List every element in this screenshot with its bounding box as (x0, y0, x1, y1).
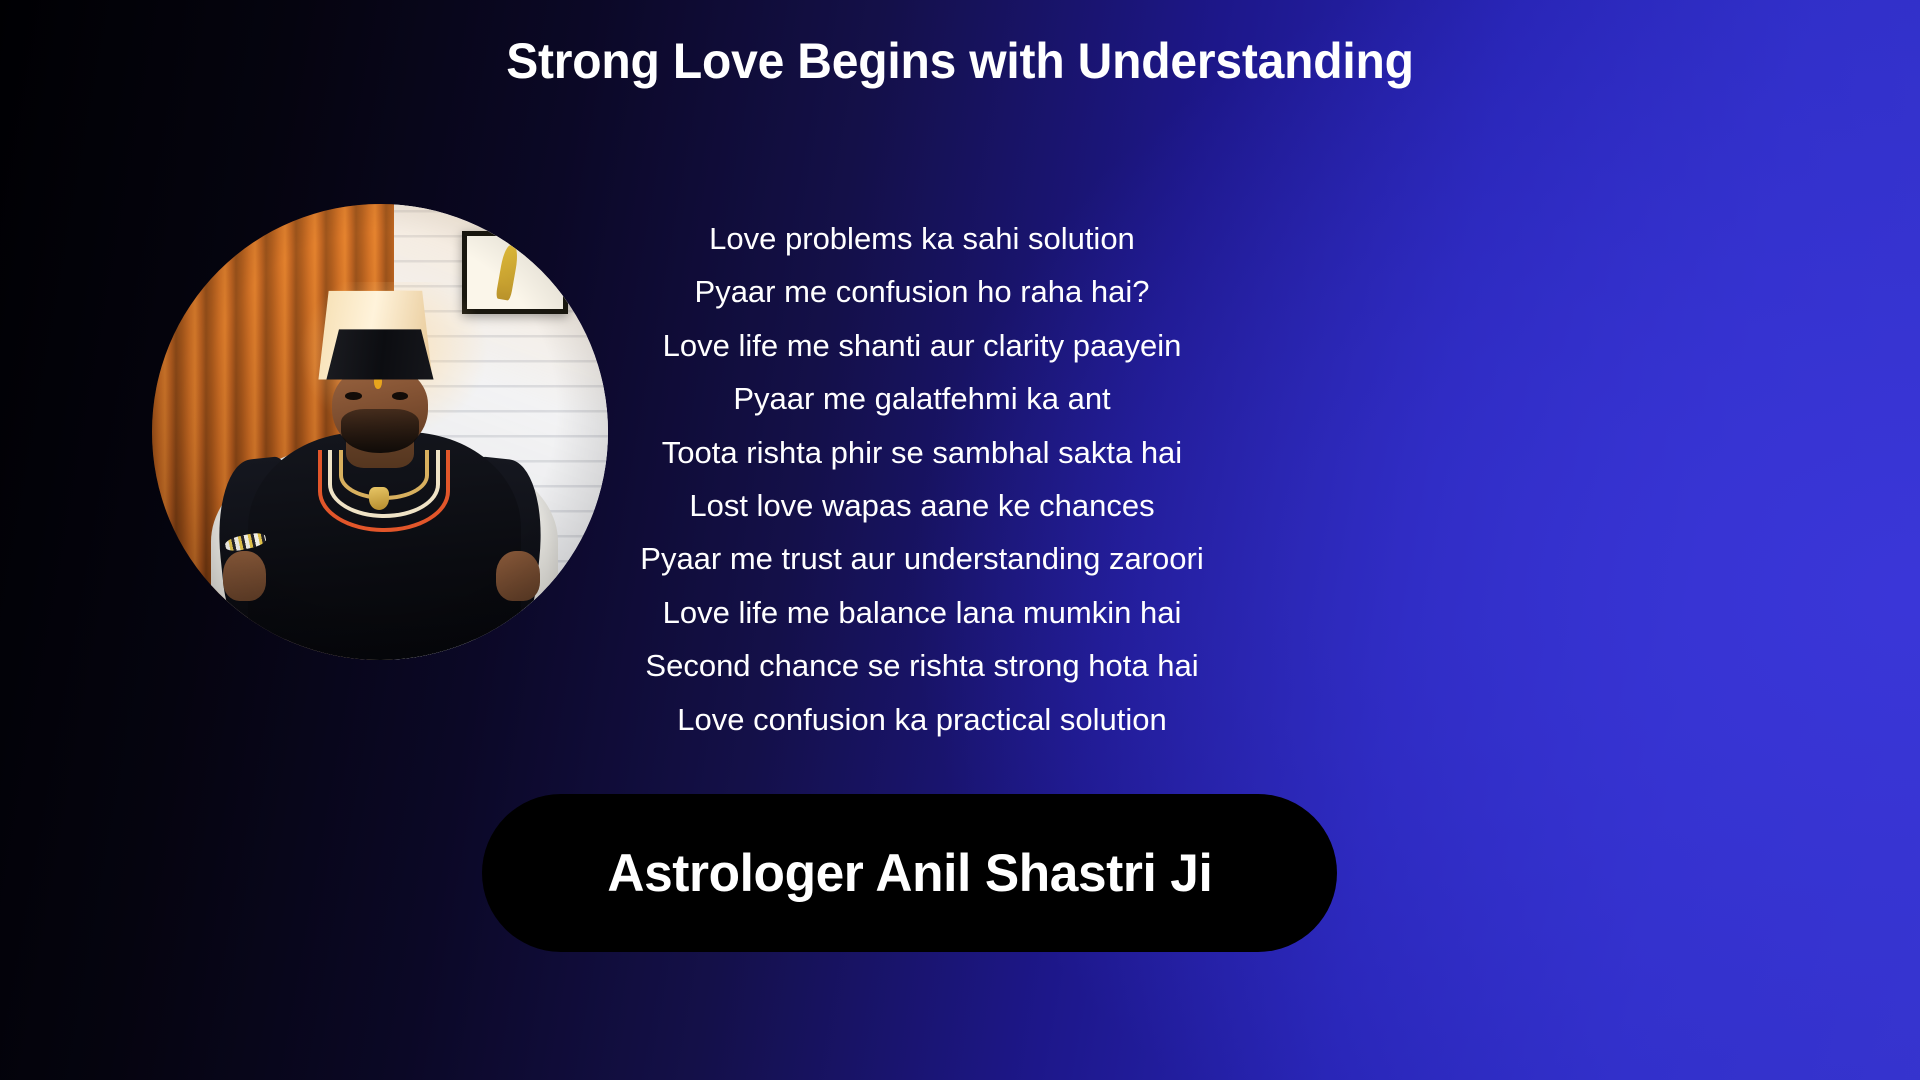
benefit-line: Love life me balance lana mumkin hai (592, 586, 1252, 639)
poster-canvas: Strong Love Begins with Understanding Lo… (0, 0, 1920, 1080)
astrologer-portrait (152, 204, 608, 660)
benefits-list: Love problems ka sahi solution Pyaar me … (592, 212, 1252, 746)
photo-vignette (152, 204, 608, 660)
benefit-line: Lost love wapas aane ke chances (592, 479, 1252, 532)
benefit-line: Pyaar me confusion ho raha hai? (592, 265, 1252, 318)
astrologer-name-label: Astrologer Anil Shastri Ji (607, 843, 1212, 904)
benefit-line: Love confusion ka practical solution (592, 693, 1252, 746)
benefit-line: Love life me shanti aur clarity paayein (592, 319, 1252, 372)
benefit-line: Love problems ka sahi solution (592, 212, 1252, 265)
benefit-line: Toota rishta phir se sambhal sakta hai (592, 426, 1252, 479)
page-title: Strong Love Begins with Understanding (38, 34, 1881, 89)
benefit-line: Second chance se rishta strong hota hai (592, 639, 1252, 692)
astrologer-name-button[interactable]: Astrologer Anil Shastri Ji (482, 794, 1337, 952)
benefit-line: Pyaar me trust aur understanding zaroori (592, 532, 1252, 585)
benefit-line: Pyaar me galatfehmi ka ant (592, 372, 1252, 425)
